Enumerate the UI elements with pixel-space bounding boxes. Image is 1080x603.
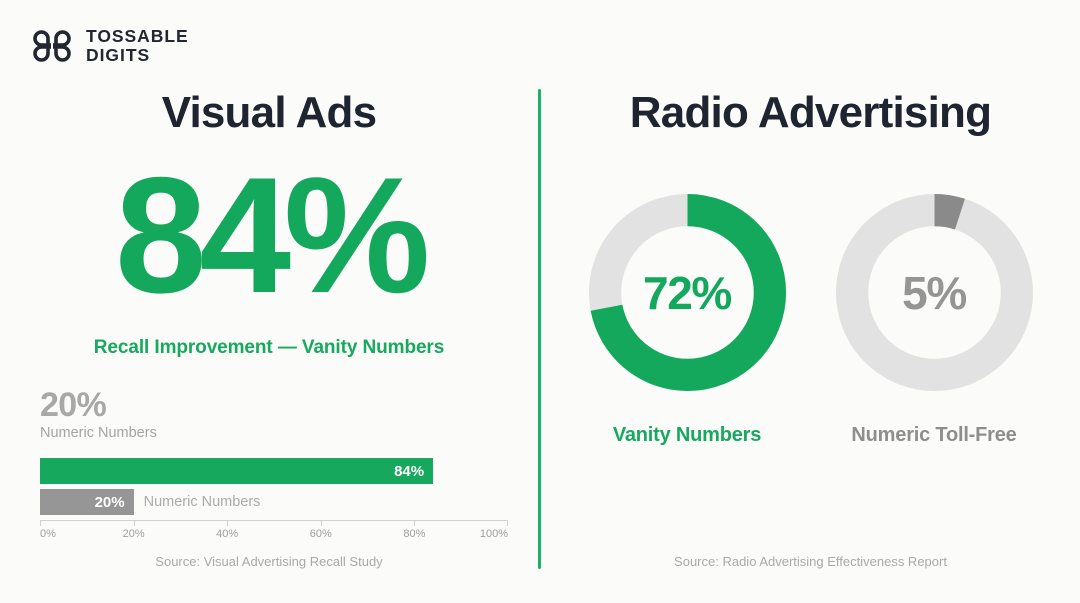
bar-chart: 84% 20% Numeric Numbers 0%20%40%60%80%10…	[40, 458, 508, 546]
axis-tick-label: 80%	[403, 528, 425, 540]
secondary-stat: 20% Numeric Numbers	[40, 388, 157, 441]
donut-chart-vanity-numbers[interactable]: 72% Vanity Numbers	[580, 185, 795, 447]
bar-fill-vanity: 84%	[40, 458, 433, 484]
bar-axis-line	[40, 520, 508, 521]
axis-tick	[507, 520, 508, 526]
donut-center-value: 72%	[580, 185, 795, 400]
donut-ring-numeric: 5%	[827, 185, 1042, 400]
axis-tick	[321, 520, 322, 526]
bar-value-label: 84%	[394, 463, 433, 480]
donut-ring-vanity: 72%	[580, 185, 795, 400]
panel-visual-ads: Visual Ads 84% Recall Improvement — Vani…	[0, 0, 538, 603]
axis-tick	[227, 520, 228, 526]
panel-title-radio-advertising: Radio Advertising	[541, 88, 1080, 138]
bar-row[interactable]: 84%	[40, 458, 508, 484]
hero-stat-value: 84%	[0, 153, 538, 318]
bar-outside-label: Numeric Numbers	[144, 489, 261, 515]
axis-tick	[414, 520, 415, 526]
axis-tick-label: 20%	[123, 528, 145, 540]
axis-tick	[134, 520, 135, 526]
bar-row[interactable]: 20% Numeric Numbers	[40, 489, 508, 515]
donut-chart-numeric-toll-free[interactable]: 5% Numeric Toll-Free	[827, 185, 1042, 447]
secondary-stat-label: Numeric Numbers	[40, 425, 157, 441]
source-caption-radio-advertising: Source: Radio Advertising Effectiveness …	[541, 554, 1080, 569]
bar-chart-axis: 0%20%40%60%80%100%	[40, 520, 508, 546]
bar-fill-numeric: 20%	[40, 489, 134, 515]
donut-chart-group: 72% Vanity Numbers 5% Numeric Toll-Free	[541, 185, 1080, 447]
axis-tick	[40, 520, 41, 526]
hero-stat-label: Recall Improvement — Vanity Numbers	[0, 337, 538, 359]
donut-label-numeric-toll-free: Numeric Toll-Free	[827, 424, 1042, 447]
panel-radio-advertising: Radio Advertising 72% Vanity Numbers 5% …	[541, 0, 1080, 603]
panel-title-visual-ads: Visual Ads	[0, 88, 538, 138]
axis-tick-label: 60%	[310, 528, 332, 540]
axis-tick-label: 40%	[216, 528, 238, 540]
axis-tick-label: 0%	[40, 528, 56, 540]
donut-center-value: 5%	[827, 185, 1042, 400]
axis-tick-label: 100%	[480, 528, 508, 540]
source-caption-visual-ads: Source: Visual Advertising Recall Study	[0, 554, 538, 569]
donut-label-vanity-numbers: Vanity Numbers	[580, 424, 795, 447]
secondary-stat-value: 20%	[40, 388, 157, 424]
bar-value-label: 20%	[95, 494, 134, 511]
